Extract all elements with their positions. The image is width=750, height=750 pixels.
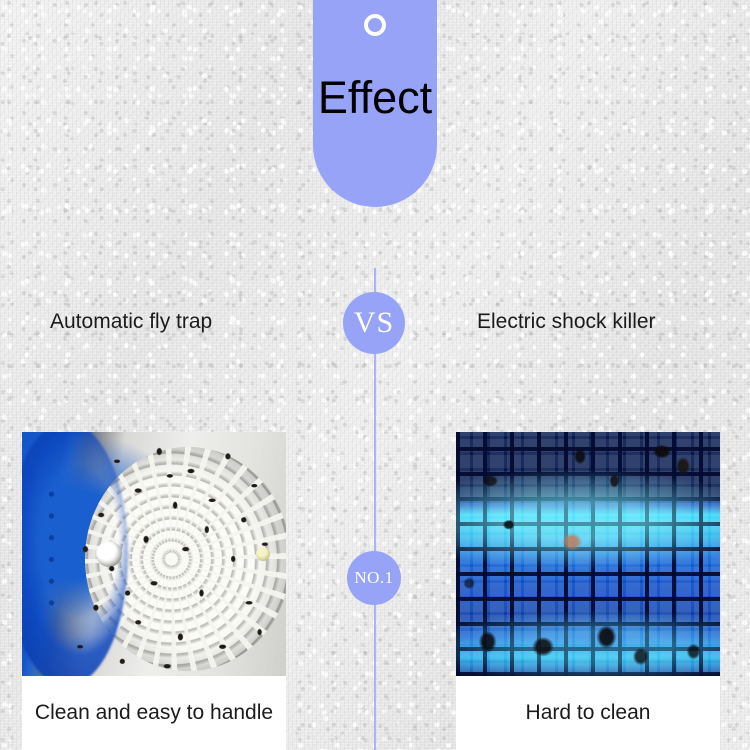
right-caption: Hard to clean — [456, 676, 720, 750]
burnt-insect-debris — [456, 432, 720, 676]
right-column-heading: Electric shock killer — [477, 310, 656, 334]
electric-shock-grid-photo — [456, 432, 720, 676]
fly-trap-photo — [22, 432, 286, 676]
rank-badge: NO.1 — [347, 551, 401, 605]
vs-badge: VS — [343, 292, 405, 354]
trapped-flies — [22, 432, 286, 676]
left-column-heading: Automatic fly trap — [50, 310, 212, 334]
page-title: Effect — [313, 72, 437, 124]
circle-ring-icon — [364, 14, 386, 36]
infographic-stage: Effect VS NO.1 Automatic fly trap Electr… — [0, 0, 750, 750]
left-comparison-card: Clean and easy to handle — [22, 432, 286, 750]
effect-banner: Effect — [313, 0, 437, 207]
left-caption: Clean and easy to handle — [22, 676, 286, 750]
right-comparison-card: Hard to clean — [456, 432, 720, 750]
